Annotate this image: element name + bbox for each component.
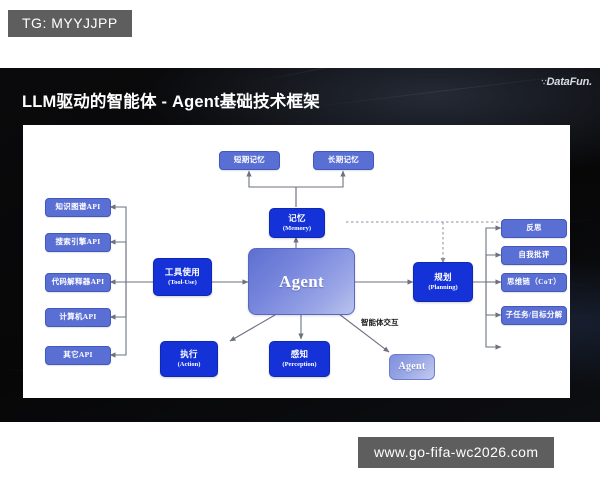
node-label-en: (Planning) — [428, 284, 457, 291]
node-reflection[interactable]: 反思 — [501, 219, 567, 238]
node-label: 反思 — [526, 224, 542, 233]
node-label: 搜索引擎API — [55, 238, 100, 247]
node-label-en: (Tool-Use) — [168, 279, 197, 286]
node-label-cn: 工具使用 — [165, 268, 200, 278]
node-label: 子任务/目标分解 — [506, 311, 563, 320]
diagram-panel: 短期记忆 长期记忆 记忆 (Memory) Agent 工具使用 (Tool-U… — [23, 125, 570, 398]
node-label-en: (Memory) — [283, 225, 311, 232]
node-label: 自我批评 — [518, 251, 549, 260]
node-label-cn: 规划 — [434, 273, 452, 283]
node-chain-of-thought[interactable]: 思维链（CoT） — [501, 273, 567, 292]
node-code-interpreter-api[interactable]: 代码解释器API — [45, 273, 111, 292]
node-knowledge-graph-api[interactable]: 知识图谱API — [45, 198, 111, 217]
node-agent-peer[interactable]: Agent — [389, 354, 435, 380]
node-label-cn: 记忆 — [288, 214, 306, 224]
node-other-api[interactable]: 其它API — [45, 346, 111, 365]
node-subtask-decomposition[interactable]: 子任务/目标分解 — [501, 306, 567, 325]
node-planning[interactable]: 规划 (Planning) — [413, 262, 473, 302]
node-label-en: (Perception) — [282, 361, 316, 368]
node-label: 计算机API — [59, 313, 96, 322]
top-watermark-badge: TG: MYYJJPP — [8, 10, 132, 37]
node-computer-api[interactable]: 计算机API — [45, 308, 111, 327]
node-label: Agent — [398, 361, 425, 373]
node-self-criticism[interactable]: 自我批评 — [501, 246, 567, 265]
node-label: 其它API — [63, 351, 92, 360]
bottom-watermark-badge: www.go-fifa-wc2026.com — [358, 437, 554, 468]
slide-title: LLM驱动的智能体 - Agent基础技术框架 — [22, 88, 320, 112]
node-label: 长期记忆 — [328, 156, 359, 165]
node-label: 代码解释器API — [52, 278, 105, 287]
node-label-cn: 感知 — [291, 350, 309, 360]
node-label: 知识图谱API — [55, 203, 100, 212]
datafun-logo: ∵DataFun. — [541, 76, 592, 88]
node-label: Agent — [279, 272, 324, 292]
screenshot-root: TG: MYYJJPP LLM驱动的智能体 - Agent基础技术框架 ∵Dat… — [0, 0, 600, 480]
node-label-cn: 执行 — [180, 350, 198, 360]
node-label: 思维链（CoT） — [507, 278, 561, 287]
node-tool-use[interactable]: 工具使用 (Tool-Use) — [153, 258, 212, 296]
node-short-term-memory[interactable]: 短期记忆 — [219, 151, 280, 170]
brand-text: DataFun. — [547, 76, 592, 88]
node-memory[interactable]: 记忆 (Memory) — [269, 208, 325, 238]
background-streak — [250, 68, 574, 83]
node-action[interactable]: 执行 (Action) — [160, 341, 218, 377]
node-label-en: (Action) — [178, 361, 201, 368]
node-agent-center[interactable]: Agent — [248, 248, 355, 315]
node-label: 短期记忆 — [234, 156, 265, 165]
logo-dots-icon: ∵ — [541, 78, 545, 87]
node-search-engine-api[interactable]: 搜索引擎API — [45, 233, 111, 252]
node-perception[interactable]: 感知 (Perception) — [269, 341, 330, 377]
interaction-label: 智能体交互 — [361, 317, 399, 328]
node-long-term-memory[interactable]: 长期记忆 — [313, 151, 374, 170]
presentation-slide: LLM驱动的智能体 - Agent基础技术框架 ∵DataFun. — [0, 68, 600, 422]
